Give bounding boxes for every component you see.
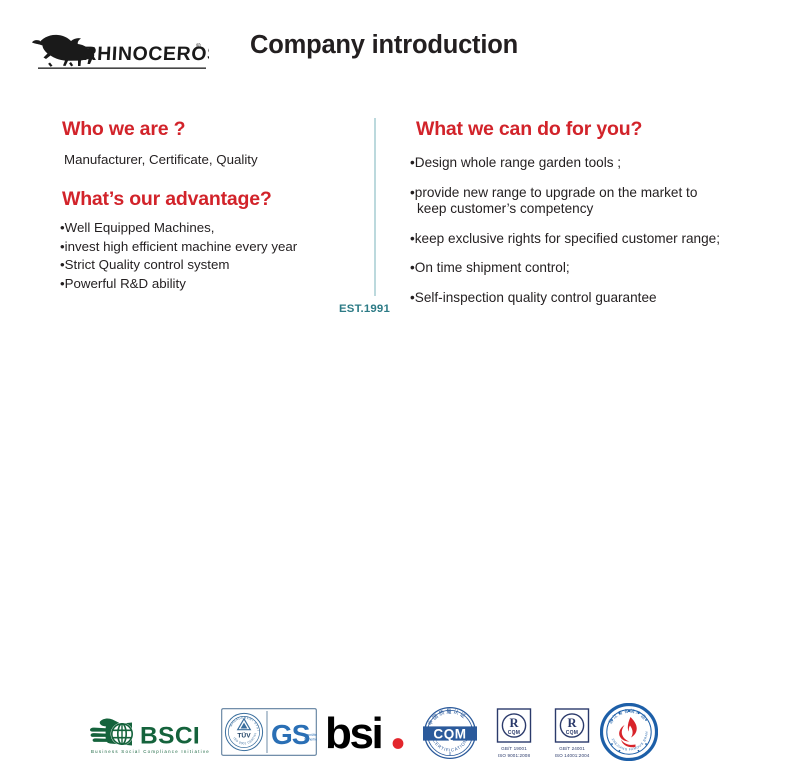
brand-logo: RHINOCEROS ® [24,26,209,74]
svg-text:RHINOCEROS: RHINOCEROS [82,43,209,65]
list-item: •Well Equipped Machines, [60,219,297,238]
svg-text:CQM: CQM [566,730,579,736]
list-item: •keep exclusive rights for specified cus… [410,231,790,248]
r-cqm-mark-icon: R CQM [547,708,597,744]
iso-caption-standard: GB/T 24001 [547,746,597,751]
list-item-line: •On time shipment control; [410,260,570,275]
cqm-wordmark: CQM [433,726,466,741]
list-item: •Self-inspection quality control guarant… [410,290,790,307]
who-we-are-answer: Manufacturer, Certificate, Quality [64,152,258,168]
tuv-gs-logo-icon: TÜV MANAGEMENT SYSTEM ISO 9001 CERTIFIED… [221,708,317,756]
list-item-line: •Self-inspection quality control guarant… [410,290,657,305]
rhino-logo-icon: RHINOCEROS ® [24,26,209,74]
capability-list: •Design whole range garden tools ; •prov… [410,155,790,319]
certification-logo-bsi: bsi [325,710,411,754]
china-quality-emblem-icon: 浙江省名牌产品 ZHEJIANG FAMOUS BRAND [600,703,658,761]
cqm-logo-icon: CQM 中国质量认证 CERTIFICATION [418,706,482,760]
list-item-line: •provide new range to upgrade on the mar… [410,185,697,200]
list-item-line-wrap: keep customer’s competency [410,201,790,218]
heading-who-we-are: Who we are ? [62,118,185,141]
page-header: RHINOCEROS ® Company introduction [0,0,800,92]
column-divider [374,118,376,296]
certification-mark-iso-14001: R CQM GB/T 24001 ISO 14001:2004 [547,708,597,762]
iso-caption-iso: ISO 14001:2004 [547,753,597,758]
list-item: •invest high efficient machine every yea… [60,238,297,257]
list-item-line: •keep exclusive rights for specified cus… [410,231,720,246]
list-item-line: •Design whole range garden tools ; [410,155,621,170]
svg-text:Sicherheit: Sicherheit [304,738,317,742]
bsi-red-dot [393,738,404,749]
svg-text:R: R [567,716,577,730]
bsi-wordmark: bsi [325,710,382,754]
list-item: •Powerful R&D ability [60,275,297,294]
heading-our-advantage: What’s our advantage? [62,188,272,211]
bsci-wordmark: BSCI [140,723,200,750]
svg-text:CQM: CQM [508,730,521,736]
svg-text:R: R [509,716,519,730]
heading-what-we-can-do: What we can do for you? [416,118,642,141]
certification-logo-tuv-gs: TÜV MANAGEMENT SYSTEM ISO 9001 CERTIFIED… [221,708,317,756]
page-title: Company introduction [250,31,518,60]
svg-text:®: ® [196,42,201,50]
bsi-logo-icon: bsi [325,710,411,754]
list-item: •Strict Quality control system [60,256,297,275]
list-item: •provide new range to upgrade on the mar… [410,185,790,218]
certification-logo-strip: BSCI Business Social Compliance Initiati… [0,348,800,423]
certification-mark-iso-9001: R CQM GB/T 19001 ISO 9001:2008 [489,708,539,762]
bsci-tagline: Business Social Compliance Initiative [91,749,210,754]
established-year-badge: EST.1991 [339,303,390,315]
advantage-list: •Well Equipped Machines, •invest high ef… [60,219,297,293]
certification-logo-cqm: CQM 中国质量认证 CERTIFICATION [418,706,482,760]
bsci-logo-icon: BSCI Business Social Compliance Initiati… [88,709,213,755]
list-item: •On time shipment control; [410,260,790,277]
r-cqm-mark-icon: R CQM [489,708,539,744]
gs-side-text: Geprüfte [304,733,317,737]
certification-logo-china-emblem: 浙江省名牌产品 ZHEJIANG FAMOUS BRAND [600,703,658,761]
iso-caption-iso: ISO 9001:2008 [489,753,539,758]
list-item: •Design whole range garden tools ; [410,155,790,172]
certification-logo-bsci: BSCI Business Social Compliance Initiati… [88,709,213,755]
iso-caption-standard: GB/T 19001 [489,746,539,751]
tuv-mark-text: TÜV [237,731,251,740]
